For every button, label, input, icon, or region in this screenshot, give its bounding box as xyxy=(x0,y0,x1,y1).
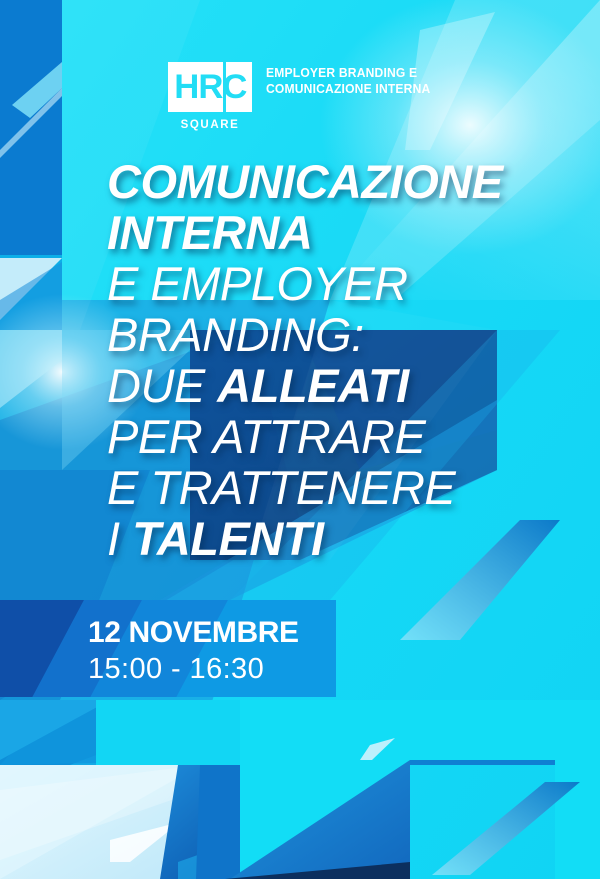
event-date-banner: 12 NOVEMBRE 15:00 - 16:30 xyxy=(0,600,336,697)
page-title: COMUNICAZIONE INTERNA E EMPLOYER BRANDIN… xyxy=(107,156,567,564)
title-line-6: PER ATTRARE xyxy=(107,411,567,462)
title-line-5: DUE ALLEATI xyxy=(107,360,567,411)
title-line-1: COMUNICAZIONE xyxy=(107,156,567,207)
title-line-2: INTERNA xyxy=(107,207,567,258)
event-time: 15:00 - 16:30 xyxy=(88,652,299,686)
hrc-plate: HRC xyxy=(168,62,252,112)
hrc-logo-mark: HRC SQUARE xyxy=(168,62,252,131)
title-line-8-emphasis: TALENTI xyxy=(132,512,323,565)
event-poster: HRC SQUARE EMPLOYER BRANDING E COMUNICAZ… xyxy=(0,0,600,879)
hrc-logo-text: HRC xyxy=(174,70,246,104)
title-line-8: I TALENTI xyxy=(107,513,567,564)
hrc-logo-divider xyxy=(223,62,226,112)
title-line-5-prefix: DUE xyxy=(107,359,217,412)
event-datetime: 12 NOVEMBRE 15:00 - 16:30 xyxy=(88,616,299,686)
title-line-5-emphasis: ALLEATI xyxy=(217,359,408,412)
brand-logo: HRC SQUARE EMPLOYER BRANDING E COMUNICAZ… xyxy=(168,62,443,131)
hrc-square-label: SQUARE xyxy=(168,119,252,131)
title-line-7: E TRATTENERE xyxy=(107,462,567,513)
event-tagline: EMPLOYER BRANDING E COMUNICAZIONE INTERN… xyxy=(266,65,430,96)
event-date: 12 NOVEMBRE xyxy=(88,616,299,650)
title-line-3: E EMPLOYER xyxy=(107,258,567,309)
title-line-4: BRANDING: xyxy=(107,309,567,360)
title-line-8-prefix: I xyxy=(107,512,132,565)
